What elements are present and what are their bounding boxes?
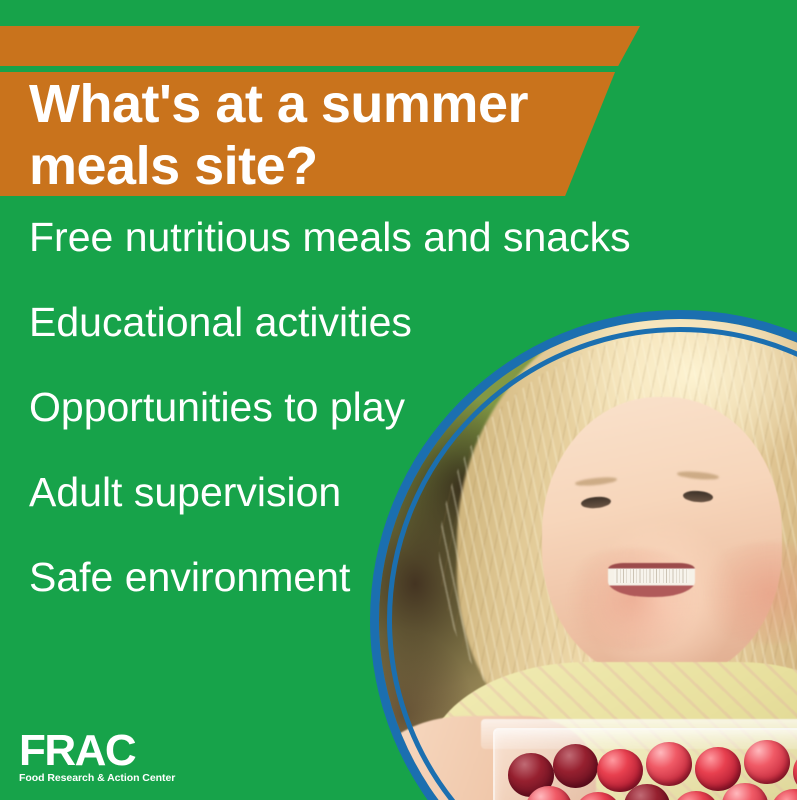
banner-stripe-top bbox=[0, 26, 640, 66]
frac-logo: FRAC Food Research & Action Center bbox=[19, 731, 175, 784]
list-item: Adult supervision bbox=[29, 469, 669, 515]
cherry bbox=[553, 744, 598, 788]
frac-logo-tagline: Food Research & Action Center bbox=[19, 772, 175, 784]
list-item: Safe environment bbox=[29, 554, 669, 600]
cherry bbox=[744, 740, 789, 784]
list-item: Opportunities to play bbox=[29, 384, 669, 430]
cherry bbox=[771, 789, 797, 800]
feature-list: Free nutritious meals and snacks Educati… bbox=[29, 214, 669, 639]
cherry bbox=[646, 742, 691, 786]
list-item: Educational activities bbox=[29, 299, 669, 345]
cherry bbox=[575, 792, 620, 800]
summer-meals-poster: What's at a summer meals site? Free nutr… bbox=[0, 0, 797, 800]
list-item: Free nutritious meals and snacks bbox=[29, 214, 669, 260]
frac-logo-wordmark: FRAC bbox=[19, 731, 175, 771]
page-title: What's at a summer meals site? bbox=[29, 73, 589, 197]
cherry bbox=[673, 791, 718, 800]
cherries-group bbox=[499, 740, 797, 800]
cherry bbox=[793, 750, 797, 794]
